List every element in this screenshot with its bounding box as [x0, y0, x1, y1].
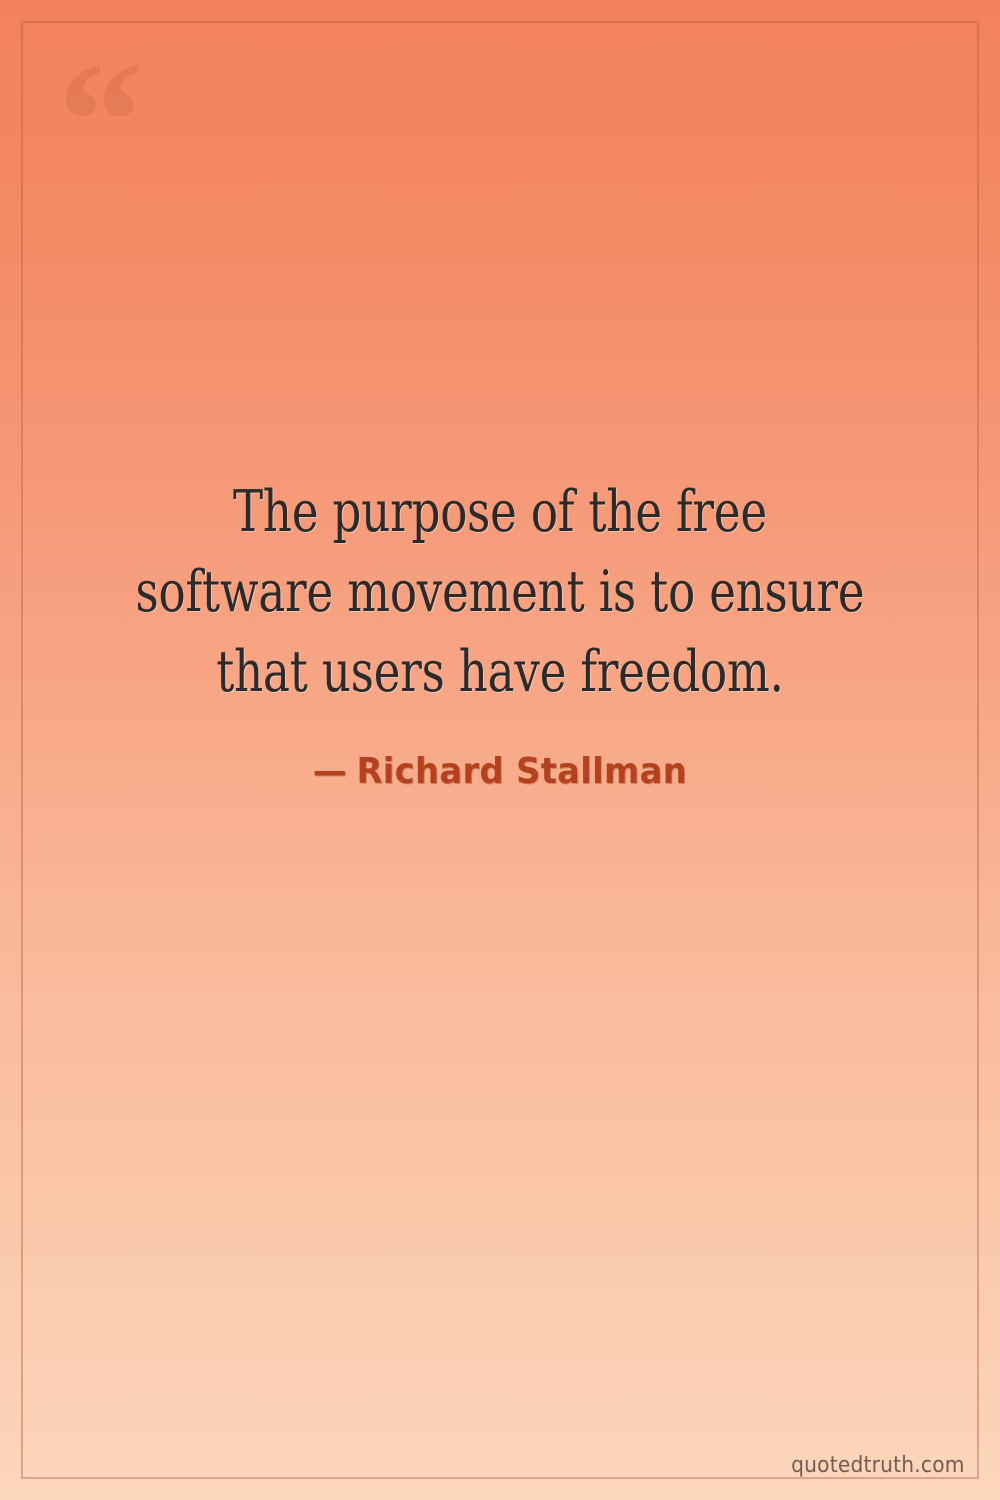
quote-text: The purpose of the free software movemen… [129, 472, 872, 712]
quote-attribution: —Richard Stallman [103, 712, 896, 794]
attribution-author: Richard Stallman [356, 751, 687, 792]
quote-content-block: The purpose of the free software movemen… [0, 472, 1000, 794]
attribution-dash: — [313, 751, 357, 792]
site-watermark: quotedtruth.com [791, 1453, 965, 1478]
quote-card: “ The purpose of the free software movem… [0, 0, 1000, 1500]
open-quote-icon: “ [58, 36, 143, 206]
